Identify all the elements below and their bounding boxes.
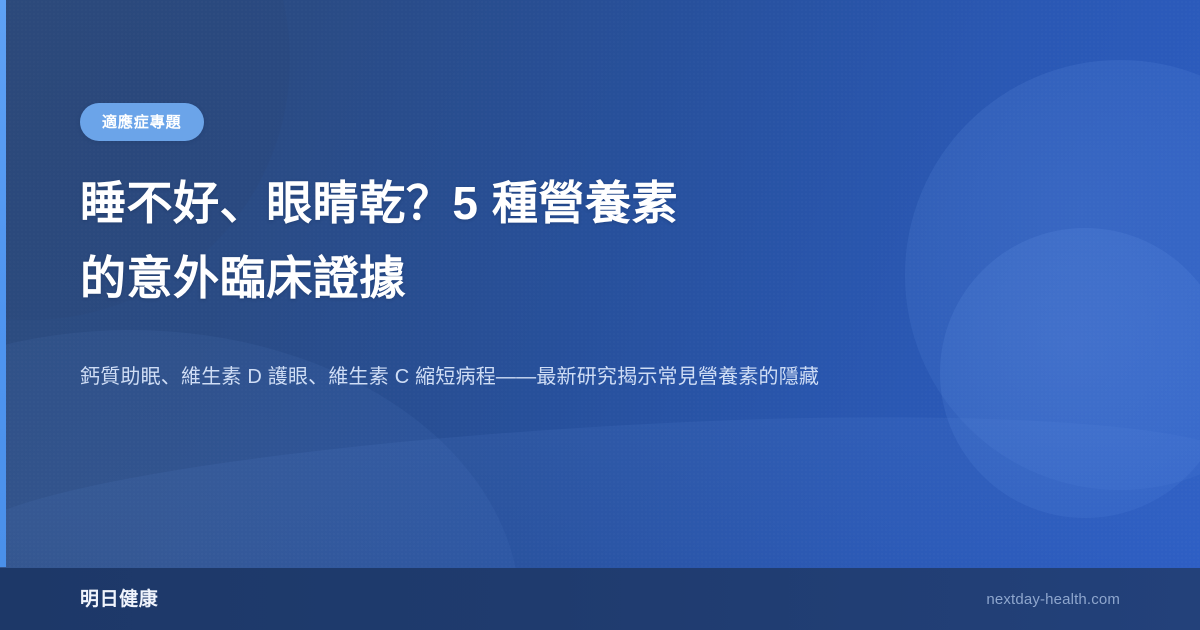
page-title-line-2: 的意外臨床證據 xyxy=(80,241,960,316)
left-accent-bar xyxy=(0,0,6,567)
category-badge-label: 適應症專題 xyxy=(102,115,182,130)
footer-brand-name: 明日健康 xyxy=(80,590,158,609)
footer-site-url: nextday-health.com xyxy=(986,592,1120,607)
article-hero-card: 適應症專題 睡不好、眼睛乾？5 種營養素 的意外臨床證據 鈣質助眠、維生素 D … xyxy=(0,0,1200,630)
page-title: 睡不好、眼睛乾？5 種營養素 的意外臨床證據 xyxy=(80,166,960,316)
page-title-line-1: 睡不好、眼睛乾？5 種營養素 xyxy=(80,166,960,241)
footer-bar: 明日健康 nextday-health.com xyxy=(0,568,1200,630)
page-subtitle: 鈣質助眠、維生素 D 護眼、維生素 C 縮短病程——最新研究揭示常見營養素的隱藏 xyxy=(80,362,1010,392)
category-badge[interactable]: 適應症專題 xyxy=(80,103,204,141)
